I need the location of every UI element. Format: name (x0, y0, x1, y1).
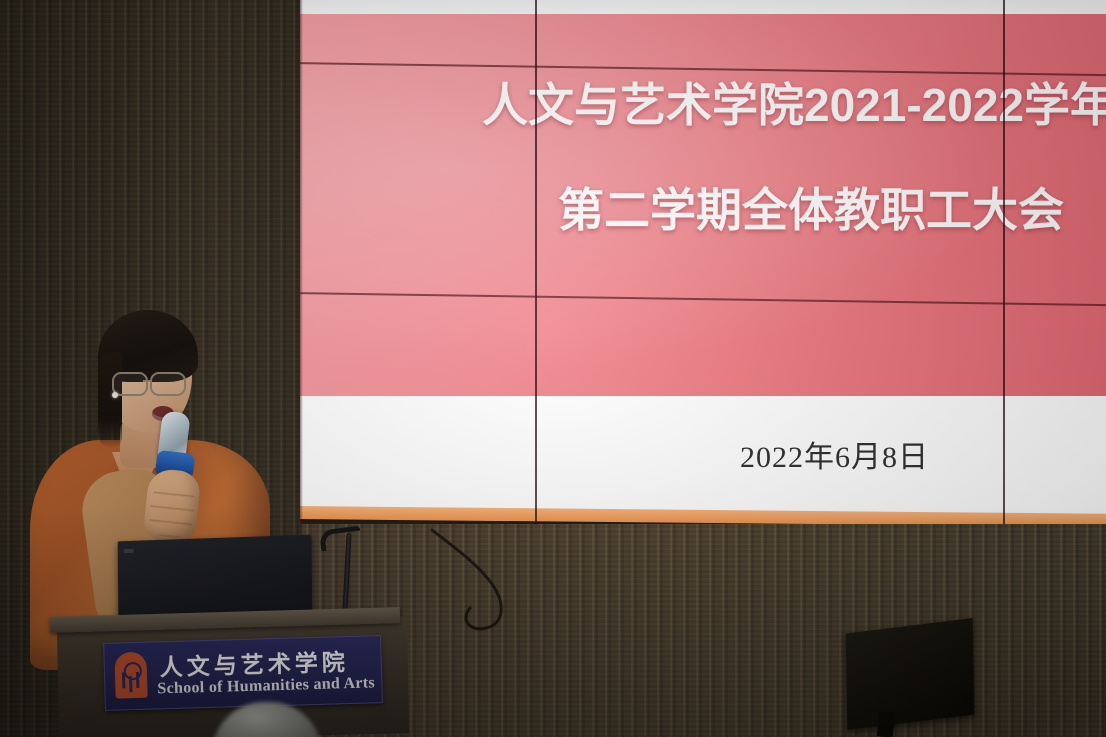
glasses-bridge-icon (143, 380, 151, 382)
speaker-hair-side (98, 352, 122, 448)
conference-photo-scene: 人文与艺术学院2021-2022学年 第二学期全体教职工大会 2022年6月8日 (0, 0, 1106, 737)
earring-icon (112, 392, 118, 398)
room-bottom-shadow (0, 507, 1106, 737)
glasses-right-lens-icon (150, 372, 186, 396)
